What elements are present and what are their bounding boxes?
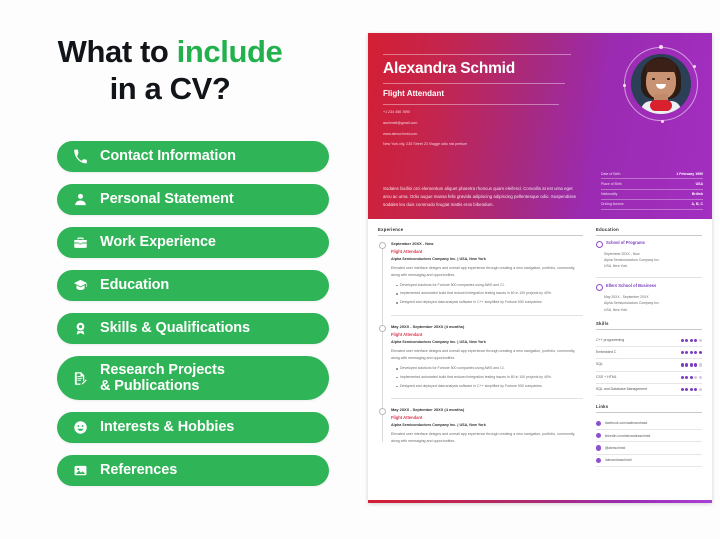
link-text: linkedin.com/alexandraschmid [605, 434, 650, 438]
bullet-dot-icon [596, 284, 603, 291]
info-value: British [692, 192, 703, 196]
divider [596, 277, 702, 278]
education-entry: Ellers School of Business May 20XX - Sep… [596, 284, 702, 313]
info-row: Place of Birth USA [601, 179, 703, 189]
list-item-label: Contact Information [100, 148, 236, 164]
slide-canvas: What to include in a CV? Contact Informa… [0, 0, 720, 539]
skill-name: SQL [596, 362, 603, 367]
info-row: Date of Birth 1 February 1990 [601, 169, 703, 179]
link-row[interactable]: facebook.com/aalexandrasd [596, 418, 702, 430]
skill-name: Embedded C [596, 350, 616, 355]
link-text: @alexschmid [605, 446, 625, 450]
section-title-education: Education [596, 227, 702, 236]
list-item-label: References [100, 462, 177, 478]
cv-body: Experience September 20XX - Now Flight A… [368, 219, 712, 497]
experience-bullet: Designed and deployed data analysis soft… [396, 299, 583, 306]
education-location: USA, New York [596, 307, 702, 313]
cv-footer-accent-bar [368, 500, 712, 503]
cv-section-list: Contact Information Personal Statement W… [57, 141, 329, 498]
info-row: Driving license A, B, C [601, 200, 703, 210]
list-item-label: Education [100, 277, 169, 293]
experience-bullets: Developed solutions for Fortune 500 comp… [391, 365, 583, 389]
facebook-icon [596, 421, 601, 426]
list-item-label: Skills & Qualifications [100, 320, 250, 336]
experience-timeline: September 20XX - Now Flight Attendant Al… [378, 241, 583, 446]
headline-highlight: include [177, 34, 283, 69]
ring-dot [623, 84, 626, 87]
experience-bullet: Implemented automated build that reduced… [396, 290, 583, 297]
headline-line2: in a CV? [0, 71, 340, 108]
left-panel: What to include in a CV? Contact Informa… [0, 0, 360, 539]
skill-name: SQL and Database Management [596, 387, 647, 392]
list-item-personal-statement[interactable]: Personal Statement [57, 184, 329, 215]
skill-name: CSS + HTML [596, 375, 617, 380]
experience-role: Flight Attendant [391, 332, 583, 337]
ring-dot [693, 65, 696, 68]
cv-contact-address: New York city, 235 Street 23 Viagge odio… [383, 142, 700, 146]
experience-bullet: Designed and deployed data analysis soft… [396, 383, 583, 390]
divider [391, 398, 583, 399]
list-item-label-line2: & Publications [100, 378, 199, 394]
experience-date: September 20XX - Now [391, 241, 583, 246]
list-item-label: Personal Statement [100, 191, 234, 207]
avatar [624, 47, 698, 121]
experience-entry: September 20XX - Now Flight Attendant Al… [391, 241, 583, 306]
experience-company: Alpha Semiconductors Company Inc. | USA,… [391, 257, 583, 261]
experience-description: Elevated user interface designs and over… [391, 265, 583, 279]
headline-line1-pre: What to [58, 34, 177, 69]
bullet-dot-icon [596, 241, 603, 248]
award-icon [70, 318, 91, 339]
info-row: Nationality British [601, 190, 703, 200]
experience-bullet: Developed solutions for Fortune 500 comp… [396, 282, 583, 289]
experience-date: May 20XX - September 20XX (4 months) [391, 324, 583, 329]
education-list: School of Programs September 20XX - Now … [596, 241, 702, 314]
link-row[interactable]: @alexschmid [596, 442, 702, 454]
divider [391, 315, 583, 316]
experience-description: Elevated user interface designs and over… [391, 431, 583, 445]
list-item-research-projects-publications[interactable]: Research Projects & Publications [57, 356, 329, 400]
cv-contact-email: aschmidt@gmail.com [383, 121, 700, 125]
info-value: USA [696, 182, 703, 186]
person-icon [70, 189, 91, 210]
link-text: /alexandraschmid [605, 458, 632, 462]
link-row[interactable]: linkedin.com/alexandraschmid [596, 430, 702, 442]
skill-row: C++ programming [596, 335, 702, 347]
cv-summary-text: Sodales facilisi orci elementum aliquet … [383, 185, 579, 209]
graduation-cap-icon [70, 275, 91, 296]
briefcase-icon [70, 232, 91, 253]
list-item-skills-qualifications[interactable]: Skills & Qualifications [57, 313, 329, 344]
experience-bullet: Developed solutions for Fortune 500 comp… [396, 365, 583, 372]
cv-info-panel: Date of Birth 1 February 1990 Place of B… [592, 161, 712, 219]
skill-rating [681, 339, 703, 342]
page-title: What to include in a CV? [0, 34, 340, 107]
avatar-photo [631, 54, 691, 114]
cv-preview[interactable]: Alexandra Schmid Flight Attendant +1 234… [368, 33, 712, 503]
info-key: Driving license [601, 202, 624, 206]
cv-experience-column: Experience September 20XX - Now Flight A… [378, 227, 591, 497]
education-entry: School of Programs September 20XX - Now … [596, 241, 702, 270]
section-title-skills: Skills [596, 321, 702, 330]
cv-sidebar-column: Education School of Programs September 2… [591, 227, 702, 497]
skill-rating [681, 363, 703, 366]
ring-dot [661, 120, 664, 123]
list-item-contact-information[interactable]: Contact Information [57, 141, 329, 172]
list-item-references[interactable]: References [57, 455, 329, 486]
skill-rating [681, 376, 703, 379]
skill-rating [681, 351, 703, 354]
info-key: Place of Birth [601, 182, 622, 186]
skill-row: SQL and Database Management [596, 384, 702, 396]
phone-icon [70, 146, 91, 167]
experience-entry: May 20XX - September 20XX (4 months) Fli… [391, 407, 583, 445]
info-value: 1 February 1990 [676, 172, 703, 176]
info-key: Date of Birth [601, 172, 620, 176]
twitter-icon [596, 445, 601, 450]
skills-list: C++ programming Embedded C SQL CSS + HTM… [596, 335, 702, 396]
section-title-experience: Experience [378, 227, 583, 236]
experience-company: Alpha Semiconductors Company Inc. | USA,… [391, 340, 583, 344]
document-edit-icon [70, 368, 91, 389]
skill-row: SQL [596, 359, 702, 371]
experience-company: Alpha Semiconductors Company Inc. | USA,… [391, 423, 583, 427]
experience-bullets: Developed solutions for Fortune 500 comp… [391, 282, 583, 306]
list-item-education[interactable]: Education [57, 270, 329, 301]
smiley-icon [70, 417, 91, 438]
skill-rating [681, 388, 703, 391]
info-value: A, B, C [692, 202, 703, 206]
cv-header: Alexandra Schmid Flight Attendant +1 234… [368, 33, 712, 219]
list-item-label: Work Experience [100, 234, 216, 250]
divider [383, 54, 571, 55]
linkedin-icon [596, 433, 601, 438]
skill-row: CSS + HTML [596, 372, 702, 384]
info-key: Nationality [601, 192, 617, 196]
skill-row: Embedded C [596, 347, 702, 359]
instagram-icon [596, 458, 601, 463]
experience-date: May 20XX - September 20XX (4 months) [391, 407, 583, 412]
link-text: facebook.com/aalexandrasd [605, 421, 647, 425]
cv-contact-website: www.alexschmid.com [383, 132, 700, 136]
divider [383, 104, 559, 105]
experience-role: Flight Attendant [391, 415, 583, 420]
education-school: Ellers School of Business [606, 284, 656, 289]
links-list: facebook.com/aalexandrasd linkedin.com/a… [596, 418, 702, 468]
image-icon [70, 460, 91, 481]
cv-summary: Sodales facilisi orci elementum aliquet … [383, 185, 579, 209]
list-item-label: Interests & Hobbies [100, 419, 234, 435]
section-title-links: Links [596, 404, 702, 413]
list-item-label: Research Projects [100, 362, 225, 378]
experience-entry: May 20XX - September 20XX (4 months) Fli… [391, 324, 583, 389]
experience-bullet: Implemented automated build that reduced… [396, 374, 583, 381]
divider [383, 83, 565, 84]
experience-description: Elevated user interface designs and over… [391, 348, 583, 362]
list-item-interests-hobbies[interactable]: Interests & Hobbies [57, 412, 329, 443]
education-school: School of Programs [606, 241, 645, 246]
link-row[interactable]: /alexandraschmid [596, 455, 702, 467]
list-item-work-experience[interactable]: Work Experience [57, 227, 329, 258]
skill-name: C++ programming [596, 338, 624, 343]
experience-role: Flight Attendant [391, 249, 583, 254]
education-location: USA, New York [596, 263, 702, 269]
